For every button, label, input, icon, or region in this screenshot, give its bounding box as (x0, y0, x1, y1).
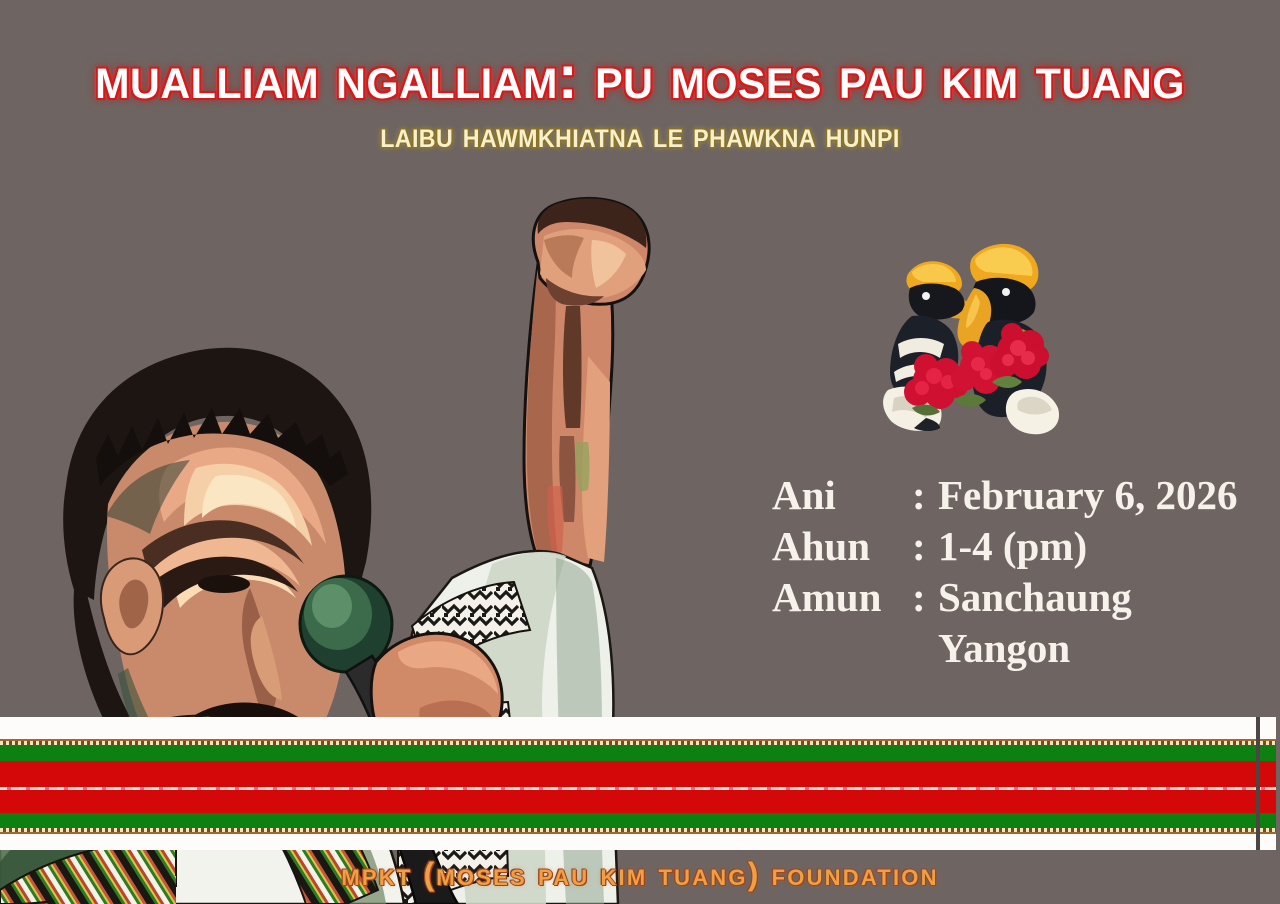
band-stripe-green-top (0, 745, 1276, 761)
detail-value-venue-city: Yangon (772, 623, 1238, 674)
poster-subtitle: Laibu Hawmkhiatna le Phawkna Hunpi (45, 116, 1235, 154)
detail-label-amun: Amun (772, 572, 912, 623)
detail-row-date: Ani : February 6, 2026 (772, 470, 1238, 521)
hornbill-birds-icon (868, 232, 1074, 437)
band-stripe-white-top (0, 717, 1276, 739)
foundation-name: MPKT (Moses Pau Kim Tuang) Foundation (341, 856, 938, 893)
detail-colon: : (912, 521, 938, 572)
detail-value-venue: Sanchaung (938, 572, 1132, 623)
poster-header: Mualliam Ngalliam: Pu Moses Pau Kim Tuan… (0, 46, 1280, 154)
page-title: Mualliam Ngalliam: Pu Moses Pau Kim Tuan… (26, 46, 1255, 110)
band-stripe-red-lower (0, 790, 1276, 813)
detail-value-time: 1-4 (pm) (938, 521, 1087, 572)
detail-row-time: Ahun : 1-4 (pm) (772, 521, 1238, 572)
detail-colon: : (912, 470, 938, 521)
detail-colon: : (912, 572, 938, 623)
detail-label-ani: Ani (772, 470, 912, 521)
band-stripe-red-upper (0, 761, 1276, 787)
poster-footer: MPKT (Moses Pau Kim Tuang) Foundation (0, 856, 1280, 893)
detail-label-ahun: Ahun (772, 521, 912, 572)
event-poster: Mualliam Ngalliam: Pu Moses Pau Kim Tuan… (0, 0, 1280, 904)
band-vertical-seam (1256, 717, 1260, 850)
event-details-block: Ani : February 6, 2026 Ahun : 1-4 (pm) A… (772, 470, 1238, 674)
detail-value-date: February 6, 2026 (938, 470, 1238, 521)
band-stripe-white-bottom (0, 834, 1276, 850)
band-stripe-green-bottom (0, 813, 1276, 828)
detail-row-venue: Amun : Sanchaung (772, 572, 1238, 623)
decorative-stripe-band (0, 717, 1276, 850)
